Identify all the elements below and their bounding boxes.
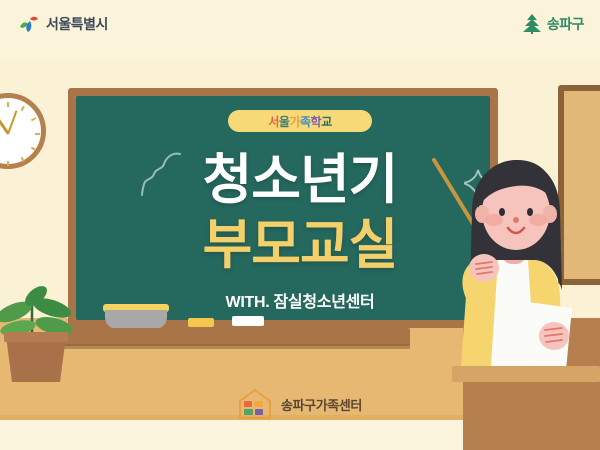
- hand-right: [539, 322, 569, 350]
- eye-left: [499, 208, 505, 216]
- clock-minute-hand: [7, 110, 17, 134]
- songpa-gu-logo: 송파구: [522, 13, 584, 34]
- clock-tick: [21, 106, 25, 111]
- seoul-city-logo: 서울특별시: [18, 14, 108, 34]
- seoul-emblem-icon: [18, 14, 40, 34]
- program-ribbon-badge: 서울가족학교: [228, 110, 372, 132]
- ribbon-syllable: 울: [279, 115, 290, 129]
- yellow-chalk: [188, 318, 214, 327]
- poster-canvas: 서울특별시 송파구 서울가족학교 청소년기 부모교실 WITH. 잠실청소년센터: [0, 0, 600, 450]
- ribbon-syllable: 교: [321, 115, 332, 129]
- house-tile: [244, 409, 253, 415]
- teacher-character-illustration: [432, 150, 600, 380]
- clock-tick: [7, 102, 9, 107]
- program-ribbon-label: 서울가족학교: [268, 113, 331, 130]
- nose: [513, 217, 519, 223]
- potted-plant-illustration: [0, 278, 102, 388]
- family-center-house-icon: [238, 388, 272, 420]
- podium-top: [452, 366, 600, 382]
- seoul-city-label: 서울특별시: [46, 14, 108, 34]
- ribbon-syllable: 서: [268, 115, 279, 129]
- ribbon-syllable: 학: [311, 115, 322, 129]
- songpa-gu-label: 송파구: [547, 14, 584, 34]
- blackboard-ledge-shadow: [60, 344, 410, 349]
- ribbon-syllable: 족: [300, 115, 311, 129]
- clock-tick: [31, 147, 36, 151]
- house-tile: [254, 401, 263, 407]
- white-chalk: [232, 316, 264, 326]
- cheek-left: [485, 214, 503, 226]
- songpa-pine-tree-icon: [522, 13, 542, 34]
- house-tile: [244, 401, 252, 407]
- ribbon-syllable: 가: [289, 115, 300, 129]
- blackboard-eraser: [105, 310, 167, 329]
- clock-tick: [35, 133, 40, 135]
- family-center-label: 송파구가족센터: [281, 395, 362, 414]
- house-tile: [255, 409, 263, 415]
- plant-pot-rim: [4, 332, 68, 342]
- plant-pot: [6, 336, 66, 382]
- footer-center-logo: 송파구가족센터: [0, 388, 600, 420]
- eye-right: [527, 208, 533, 216]
- clock-tick: [31, 117, 36, 121]
- cheek-right: [529, 214, 547, 226]
